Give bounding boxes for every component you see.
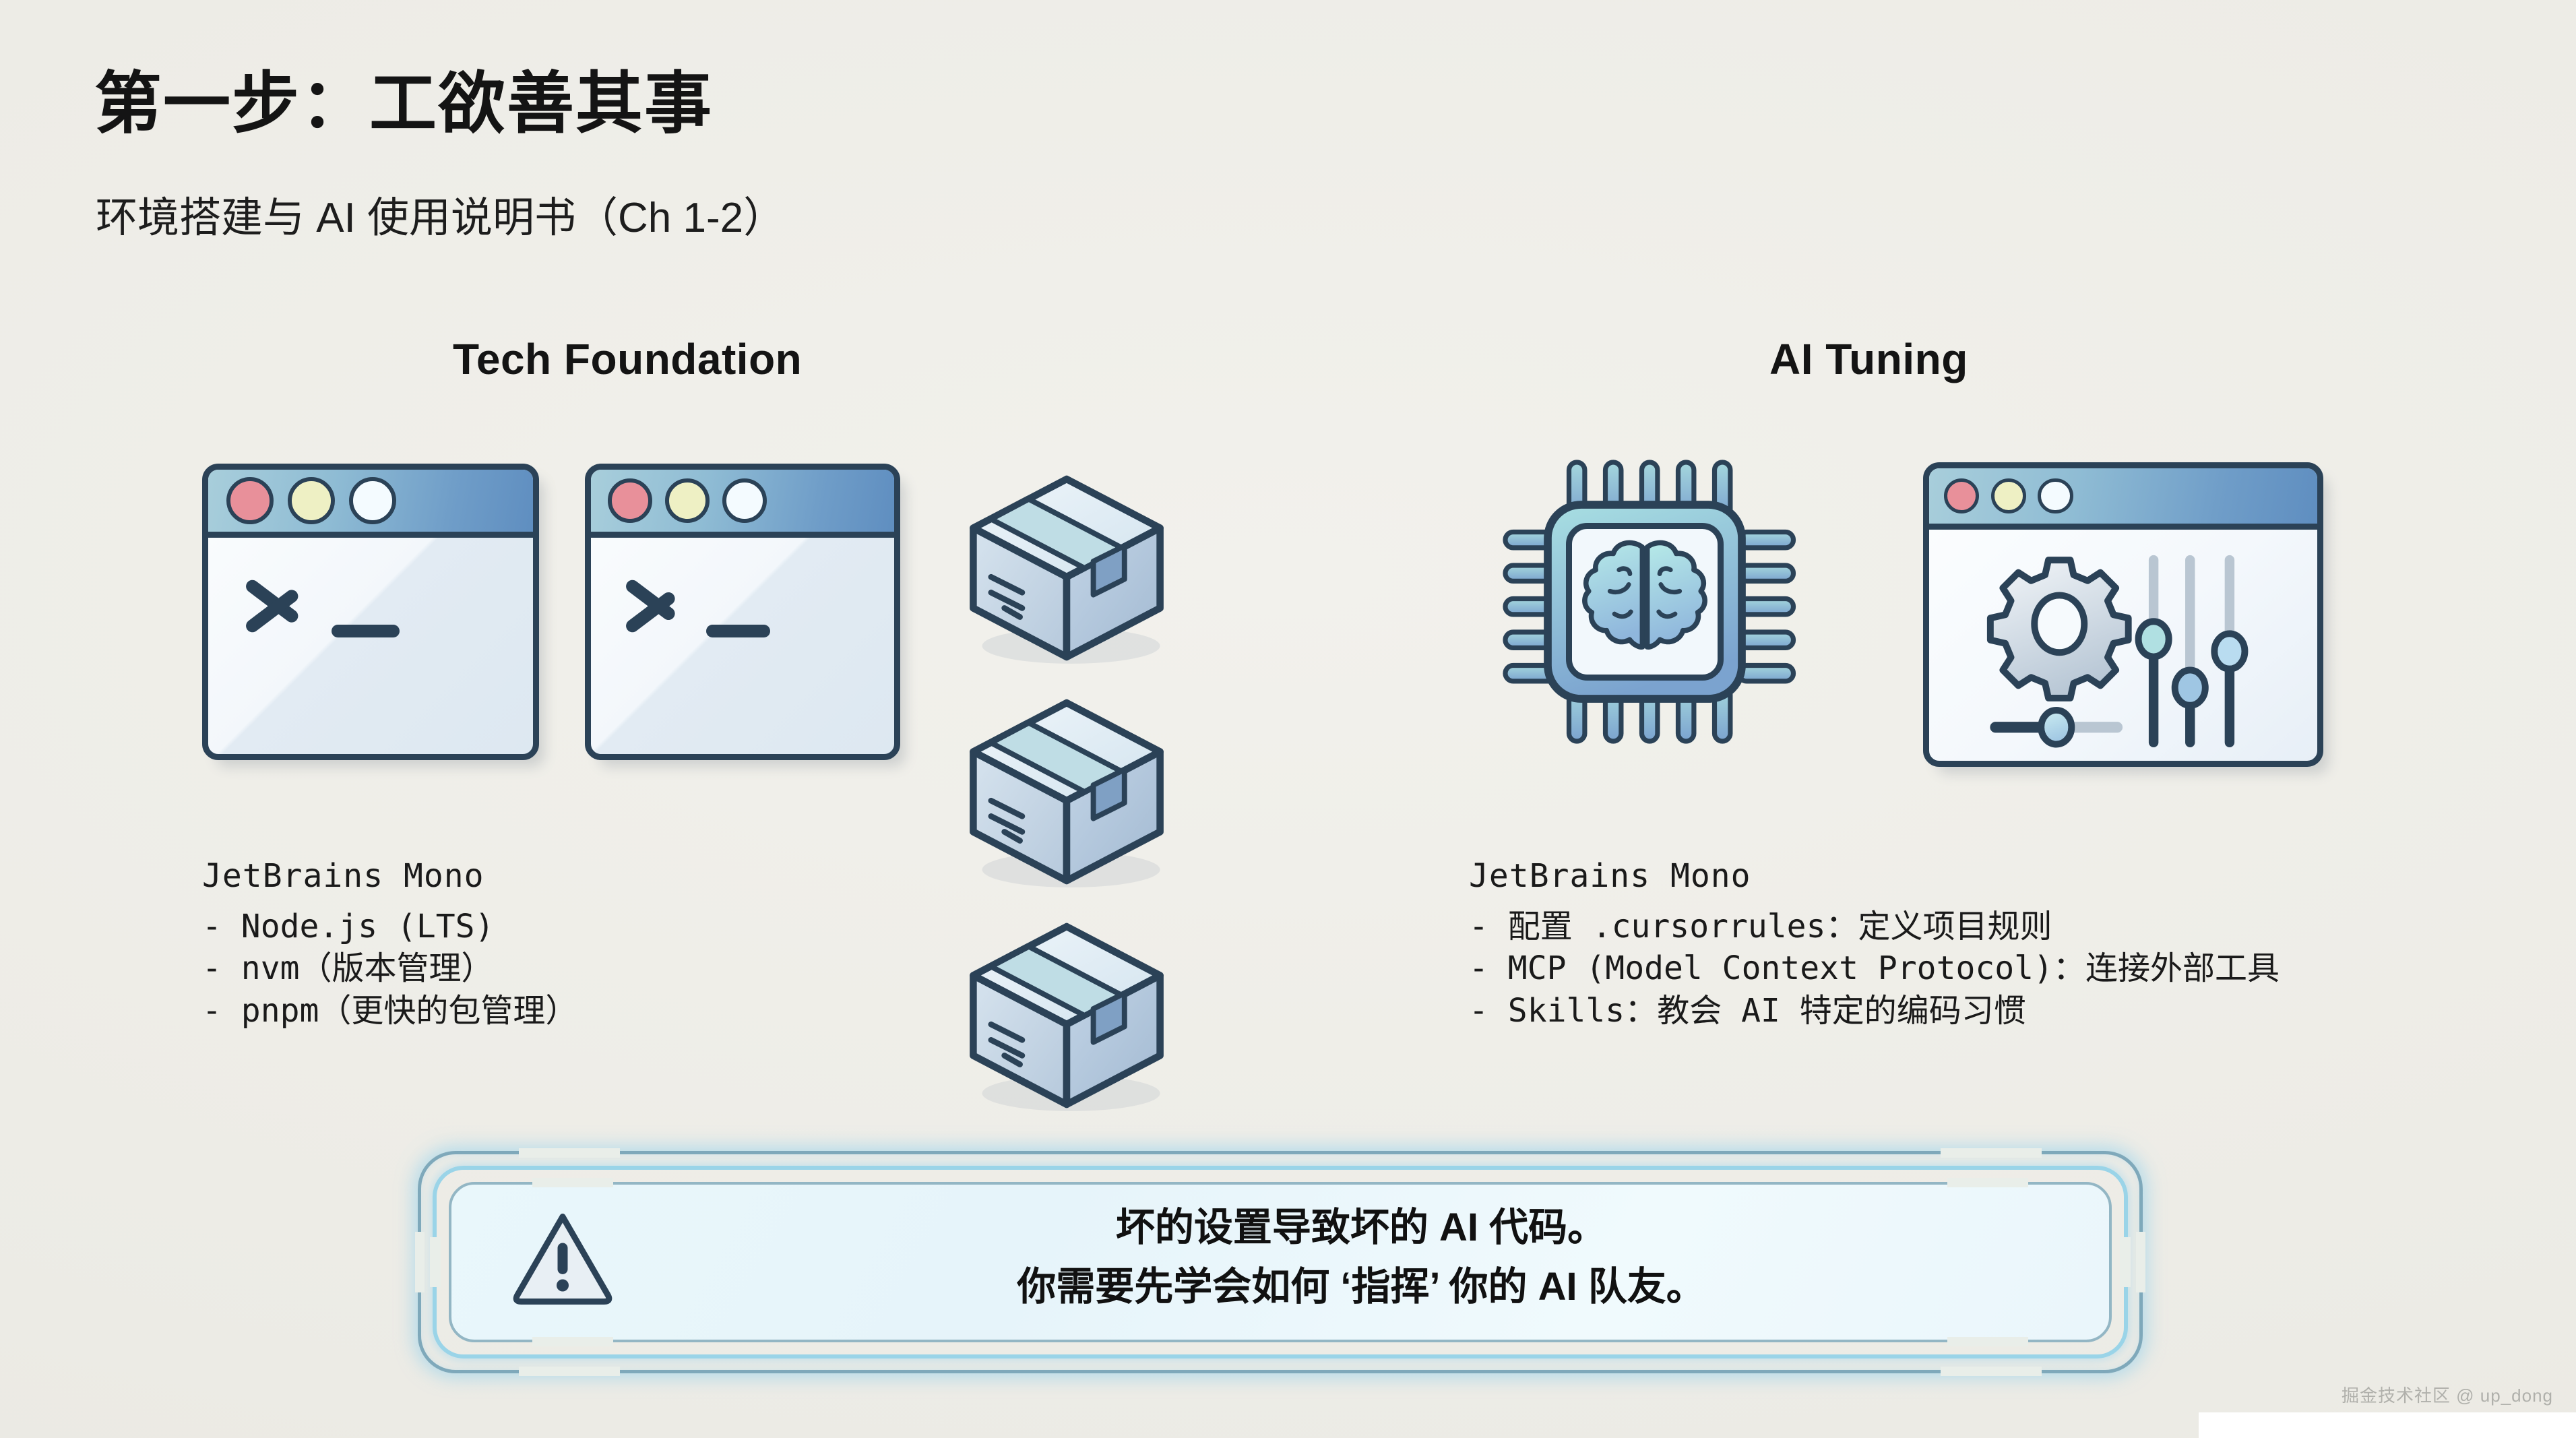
gear-icon xyxy=(1990,560,2129,698)
slide-canvas: 第一步：工欲善其事 环境搭建与 AI 使用说明书（Ch 1-2） Tech Fo… xyxy=(0,0,2576,1438)
corner-tick xyxy=(519,1148,620,1158)
list-item: - nvm（版本管理） xyxy=(202,947,577,989)
cpu-brain-chip-icon xyxy=(1493,443,1796,760)
warning-triangle-icon xyxy=(512,1210,613,1306)
column-heading-ai-tuning: AI Tuning xyxy=(1769,334,1968,384)
list-item: - Skills：教会 AI 特定的编码习惯 xyxy=(1469,990,2280,1032)
window-maximize-dot-icon xyxy=(349,477,397,525)
settings-sliders-window-icon xyxy=(1923,462,2323,767)
corner-tick xyxy=(1947,1178,2028,1187)
list-item: - 配置 .cursorrules：定义项目规则 xyxy=(1469,906,2280,947)
window-minimize-dot-icon xyxy=(1991,478,2026,513)
corner-tick xyxy=(2136,1232,2145,1292)
list-item: - pnpm（更快的包管理） xyxy=(202,990,577,1032)
ai-tuning-list: JetBrains Mono - 配置 .cursorrules：定义项目规则 … xyxy=(1469,857,2280,1032)
vertical-slider-2 xyxy=(2175,560,2205,743)
terminal-titlebar xyxy=(208,470,533,538)
callout-line-1: 坏的设置导致坏的 AI 代码。 xyxy=(640,1198,2082,1257)
window-maximize-dot-icon xyxy=(2038,478,2073,513)
corner-tick xyxy=(2120,1237,2131,1287)
package-box-glyph xyxy=(955,904,1178,1127)
corner-tick xyxy=(415,1232,425,1292)
watermark-text: 掘金技术社区 @ up_dong xyxy=(2342,1382,2553,1407)
terminal-chevron-icon xyxy=(247,573,309,637)
settings-window-titlebar xyxy=(1929,468,2317,530)
terminal-titlebar xyxy=(591,470,894,538)
package-box-glyph xyxy=(955,681,1178,903)
settings-window-body xyxy=(1929,530,2317,761)
window-minimize-dot-icon xyxy=(288,477,336,525)
window-close-dot-icon xyxy=(1944,478,1979,513)
package-box-icon-1 xyxy=(955,457,1178,679)
list-item: - Node.js (LTS) xyxy=(202,906,577,947)
list-item: - MCP (Model Context Protocol)：连接外部工具 xyxy=(1469,947,2280,989)
watermark-strip xyxy=(2199,1412,2576,1438)
settings-controls-glyph xyxy=(1929,530,2317,761)
horizontal-slider xyxy=(1996,710,2117,745)
tech-foundation-list: JetBrains Mono - Node.js (LTS) - nvm（版本管… xyxy=(202,857,577,1032)
terminal-window-icon-2 xyxy=(585,464,900,760)
page-title: 第一步：工欲善其事 xyxy=(94,49,713,146)
corner-tick xyxy=(1947,1337,2028,1346)
page-subtitle: 环境搭建与 AI 使用说明书（Ch 1-2） xyxy=(96,183,785,244)
terminal-cursor-icon xyxy=(706,625,770,637)
terminal-body xyxy=(591,538,894,754)
window-close-dot-icon xyxy=(226,477,274,525)
corner-tick xyxy=(532,1178,613,1187)
window-maximize-dot-icon xyxy=(722,478,767,523)
warning-callout: 坏的设置导致坏的 AI 代码。 你需要先学会如何 ‘指挥’ 你的 AI 队友。 xyxy=(418,1151,2143,1373)
list-font-label: JetBrains Mono xyxy=(1469,857,2280,895)
corner-tick xyxy=(519,1367,620,1376)
corner-tick xyxy=(430,1237,441,1287)
package-box-icon-3 xyxy=(955,904,1178,1127)
package-box-glyph xyxy=(955,457,1178,679)
cpu-brain-glyph xyxy=(1493,443,1796,760)
terminal-cursor-icon xyxy=(332,625,400,637)
list-font-label: JetBrains Mono xyxy=(202,857,577,895)
corner-tick xyxy=(1941,1367,2042,1376)
vertical-slider-3 xyxy=(2214,560,2244,743)
vertical-slider-1 xyxy=(2139,560,2169,743)
column-heading-tech-foundation: Tech Foundation xyxy=(453,334,802,384)
callout-text-block: 坏的设置导致坏的 AI 代码。 你需要先学会如何 ‘指挥’ 你的 AI 队友。 xyxy=(640,1198,2082,1317)
window-minimize-dot-icon xyxy=(665,478,710,523)
package-box-icon-2 xyxy=(955,681,1178,903)
corner-tick xyxy=(1941,1148,2042,1158)
terminal-body xyxy=(208,538,533,754)
callout-line-2: 你需要先学会如何 ‘指挥’ 你的 AI 队友。 xyxy=(640,1257,2082,1317)
terminal-chevron-icon xyxy=(627,573,685,637)
corner-tick xyxy=(532,1337,613,1346)
terminal-window-icon-1 xyxy=(202,464,539,760)
window-close-dot-icon xyxy=(608,478,652,523)
